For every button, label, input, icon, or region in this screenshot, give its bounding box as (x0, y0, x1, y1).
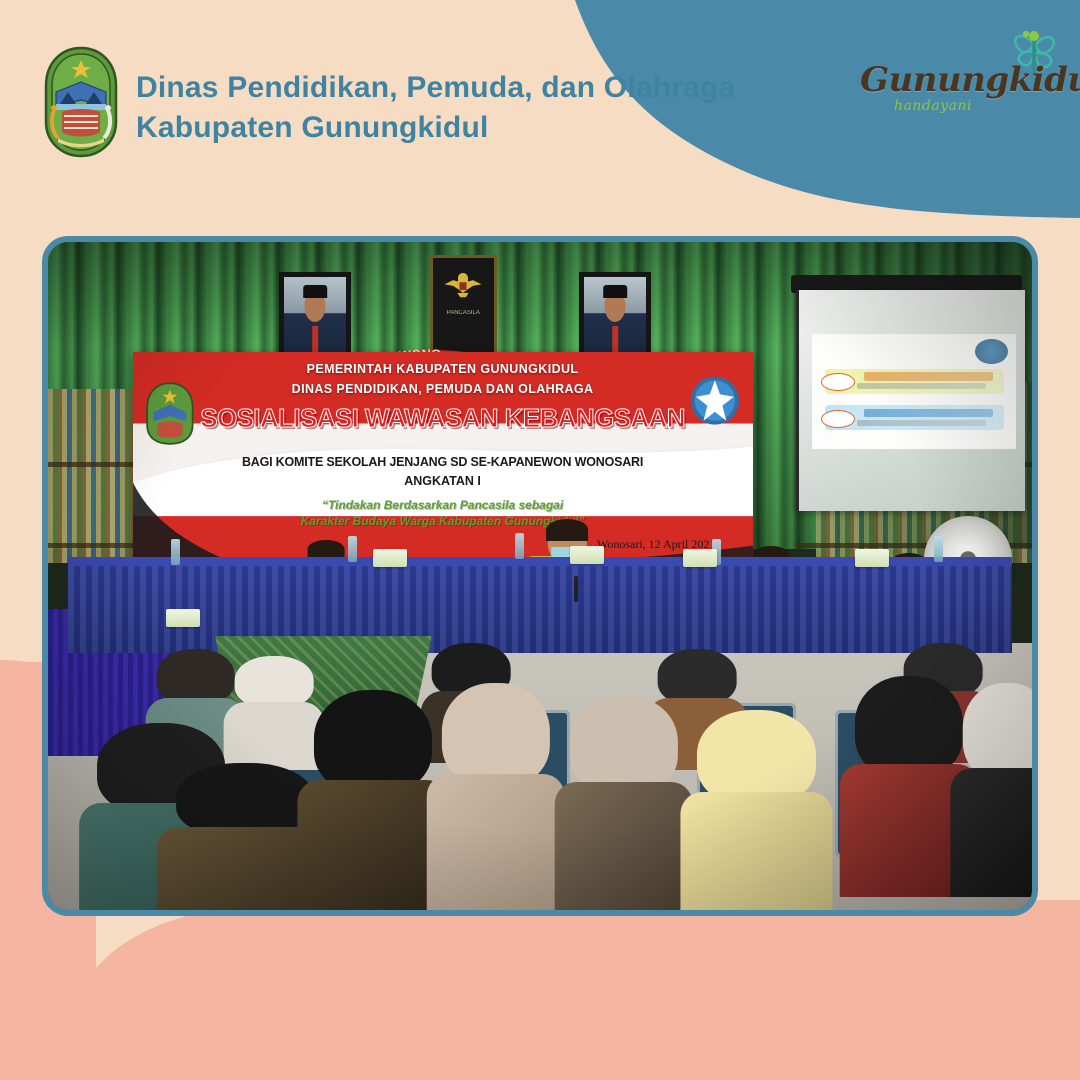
slide-text-line (857, 420, 986, 426)
brand-tagline: handayani (894, 98, 972, 114)
slide-bullet-number (821, 373, 855, 391)
slide-text-line (864, 372, 993, 381)
audience-member (855, 676, 963, 896)
gunungkidul-brand-logo: Gunungkidul handayani (860, 22, 1060, 132)
projected-slide (812, 334, 1016, 449)
slide-text-line (864, 409, 993, 418)
banner-headline: SOSIALISASI WAWASAN KEBANGSAAN (133, 403, 753, 434)
poster-header: Dinas Pendidikan, Pemuda, dan Olahraga K… (0, 0, 1080, 200)
snack-box (855, 549, 889, 567)
org-title-line1: Dinas Pendidikan, Pemuda, dan Olahraga (136, 68, 756, 108)
snack-box (166, 609, 200, 627)
audience-member (314, 690, 432, 916)
slide-bullet-number (821, 410, 855, 428)
water-bottle (934, 536, 943, 562)
photo-scene: PANCASILA NEGERI 2 WONO (48, 242, 1032, 910)
banner-quote-line1: “Tindakan Berdasarkan Pancasila sebagai (133, 497, 753, 513)
audience-member (570, 696, 678, 910)
slide-logo-icon (975, 339, 1008, 364)
audience-member (697, 710, 815, 916)
poster-canvas: Dinas Pendidikan, Pemuda, dan Olahraga K… (0, 0, 1080, 1080)
event-photo: PANCASILA NEGERI 2 WONO (42, 236, 1038, 916)
audience-member (442, 683, 550, 910)
banner-top-line1: PEMERINTAH KABUPATEN GUNUNGKIDUL (133, 362, 753, 376)
banner-subtitle-line1: BAGI KOMITE SEKOLAH JENJANG SD SE-KAPANE… (133, 455, 753, 469)
slide-text-line (857, 383, 986, 389)
snack-box (570, 546, 604, 564)
water-bottle (171, 539, 180, 565)
microphone (574, 576, 578, 602)
snack-box (373, 549, 407, 567)
banner-quote: “Tindakan Berdasarkan Pancasila sebagai … (133, 497, 753, 529)
garuda-caption: PANCASILA (433, 309, 494, 317)
water-bottle (348, 536, 357, 562)
gunungkidul-regency-crest-icon (42, 46, 120, 158)
slide-row (825, 369, 1004, 394)
org-title-line2: Kabupaten Gunungkidul (136, 108, 756, 148)
event-backdrop-banner: PEMERINTAH KABUPATEN GUNUNGKIDUL DINAS P… (133, 352, 753, 562)
audience-member (235, 656, 314, 770)
snack-box (683, 549, 717, 567)
brand-wordmark: Gunungkidul (860, 60, 1036, 100)
page-title: Dinas Pendidikan, Pemuda, dan Olahraga K… (136, 68, 756, 148)
head-table-skirt (68, 566, 1013, 653)
audience-member (963, 683, 1038, 897)
banner-top-line2: DINAS PENDIDIKAN, PEMUDA DAN OLAHRAGA (133, 382, 753, 396)
slide-row (825, 405, 1004, 430)
banner-subtitle-line2: ANGKATAN I (133, 474, 753, 488)
banner-quote-line2: Karakter Budaya Warga Kabupaten Gunungki… (133, 513, 753, 529)
water-bottle (515, 533, 524, 559)
poster-footer: @dikpora_gk pendidikan.gunungkidulkab.go… (0, 930, 1080, 1080)
projection-screen-icon (796, 290, 1025, 510)
audience-member (176, 763, 314, 916)
